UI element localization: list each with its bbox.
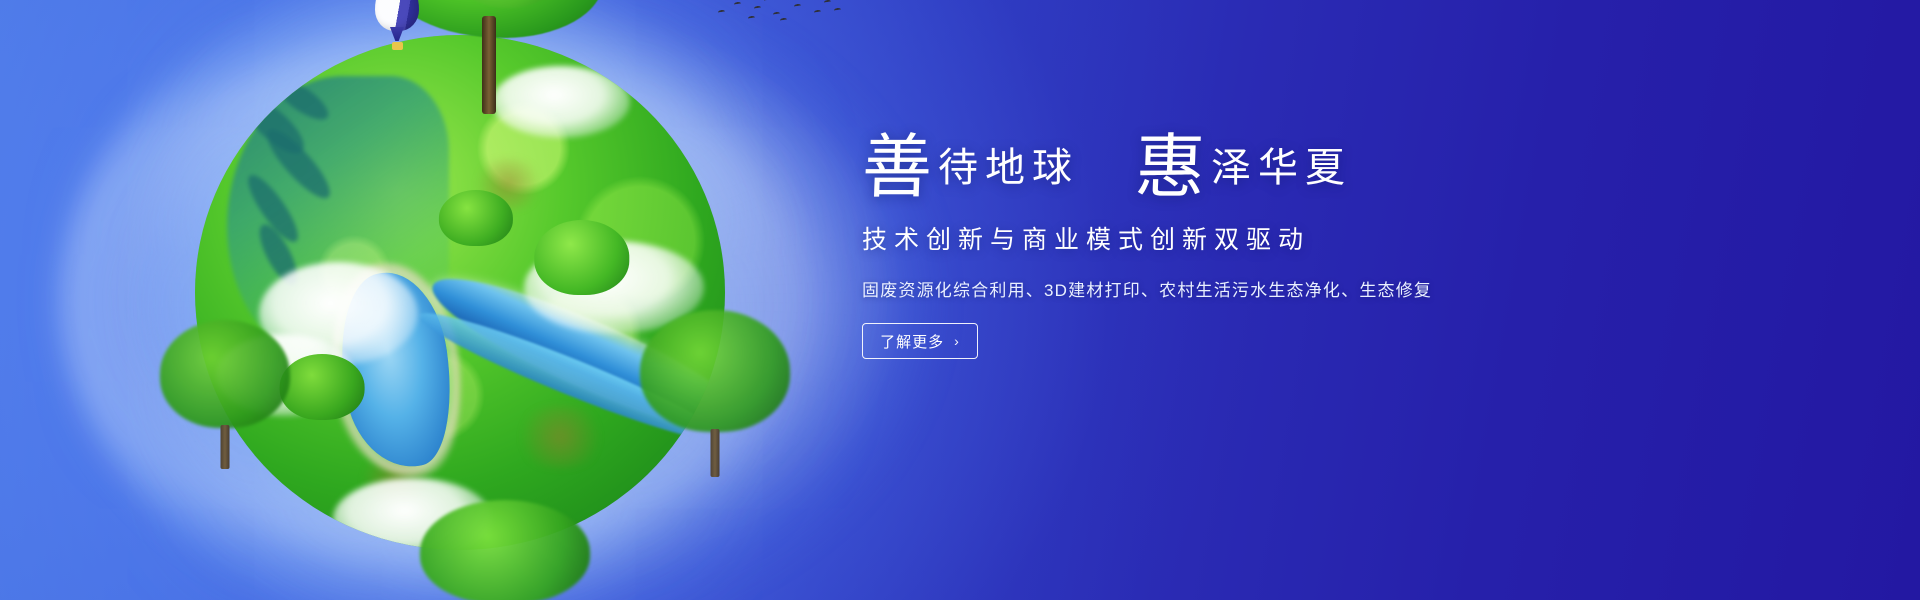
tree-trunk <box>711 429 720 477</box>
tree-canopy <box>420 500 590 600</box>
tree-icon <box>280 354 365 436</box>
balloon-envelope <box>375 0 419 31</box>
tree-icon <box>534 220 629 313</box>
tree-canopy <box>534 220 629 294</box>
tree-canopy <box>640 310 790 432</box>
tree-icon <box>439 190 513 262</box>
hero-banner: 善 待地球 惠 泽华夏 技术创新与商业模式创新双驱动 固废资源化综合利用、3D建… <box>0 0 1920 600</box>
chevron-right-icon: › <box>954 334 960 348</box>
headline-part2-big: 惠 <box>1134 134 1206 204</box>
headline-part1-big: 善 <box>861 134 933 204</box>
rim-tree-icon <box>160 320 290 470</box>
page-subtitle: 技术创新与商业模式创新双驱动 <box>862 220 1462 256</box>
tree-trunk <box>482 16 496 114</box>
tree-canopy <box>280 354 365 420</box>
learn-more-button[interactable]: 了解更多 › <box>862 323 978 359</box>
page-description: 固废资源化综合利用、3D建材打印、农村生活污水生态净化、生态修复 <box>862 276 1462 301</box>
headline-part1-small: 待地球 <box>938 148 1079 198</box>
earth-patch <box>513 406 608 468</box>
birds-flock-icon <box>710 0 850 30</box>
balloon-basket <box>392 42 403 50</box>
headline-part2-small: 泽华夏 <box>1211 148 1352 198</box>
tree-trunk <box>221 425 230 469</box>
rim-tree-icon <box>420 500 590 600</box>
tree-canopy <box>439 190 513 246</box>
page-title: 善 待地球 惠 泽华夏 <box>862 128 1462 198</box>
tree-canopy <box>160 320 290 428</box>
balloon-tail <box>390 27 404 41</box>
rim-tree-icon <box>640 310 790 480</box>
hero-content: 善 待地球 惠 泽华夏 技术创新与商业模式创新双驱动 固废资源化综合利用、3D建… <box>862 128 1462 359</box>
hot-air-balloon-icon <box>375 0 419 53</box>
earth-illustration <box>120 0 880 600</box>
learn-more-label: 了解更多 <box>880 331 944 352</box>
